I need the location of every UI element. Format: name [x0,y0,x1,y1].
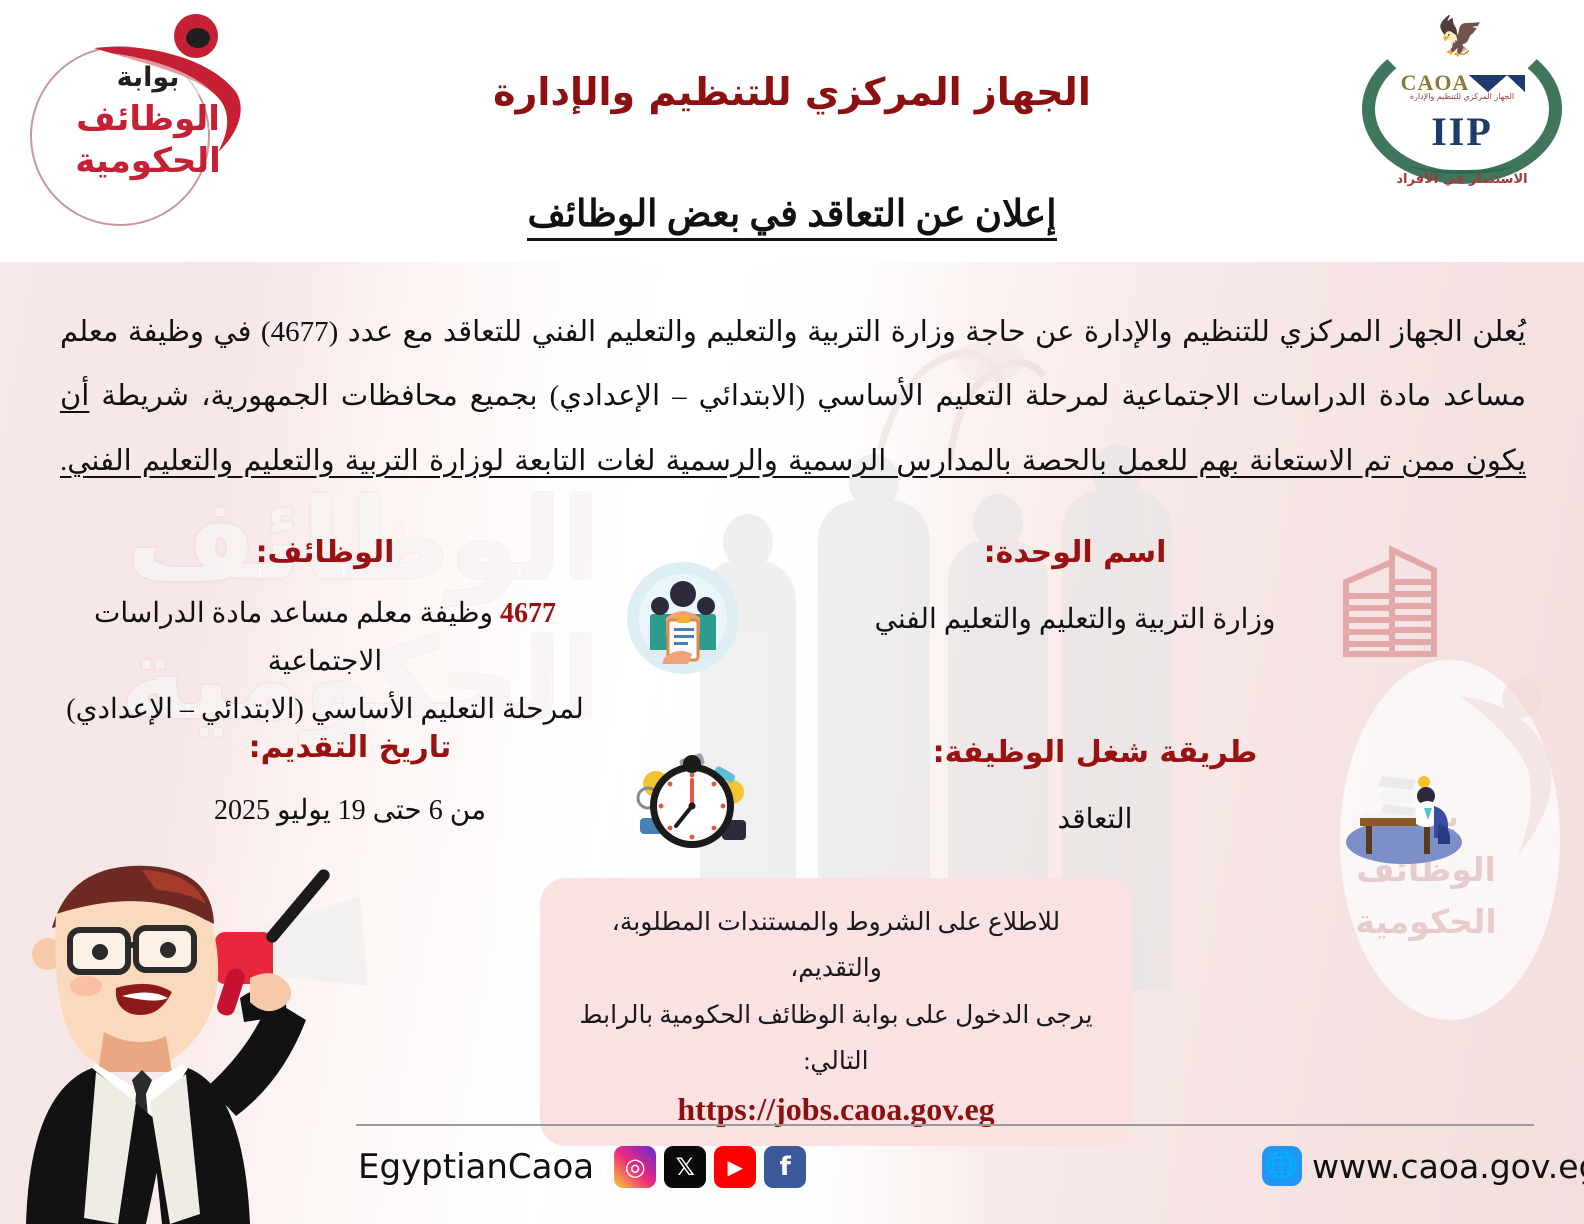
caoa-mountains-icon [1469,75,1525,92]
jobs-block: الوظائف: 4677 وظيفة معلم مساعد مادة الدر… [40,535,610,734]
jobs-portal-url[interactable]: https://jobs.caoa.gov.eg [566,1091,1106,1128]
caoa-iip-emblem: 🦅 CAOA الجهاز المركزي للتنظيم والإدارة I… [1356,12,1568,200]
footer-divider [356,1124,1534,1126]
jobs-value-line1: 4677 وظيفة معلم مساعد مادة الدراسات الاج… [40,590,610,686]
portal-logo-line2: الوظائف [28,102,268,136]
jobs-heading: الوظائف: [40,535,610,570]
iip-acronym: IIP [1394,108,1530,155]
unit-name-heading: اسم الوحدة: [840,535,1310,570]
social-handle: EgyptianCaoa [358,1147,594,1187]
instructions-line2: يرجى الدخول على بوابة الوظائف الحكومية ب… [566,993,1106,1086]
info-grid: اسم الوحدة: وزارة التربية والتعليم والتع… [0,525,1584,875]
poster-footer: f ▶ 𝕏 ◎ EgyptianCaoa 🌐 www.caoa.gov.eg [0,1124,1584,1224]
iip-arabic-label: الاستثمار في الأفراد [1376,172,1548,187]
eagle-emblem-icon: 🦅 [1440,16,1484,58]
job-announcement-poster: الوظائف الحكومية بوابة الوظائف الحكومية [0,0,1584,1224]
social-media-bar: f ▶ 𝕏 ◎ EgyptianCaoa [358,1146,806,1188]
intro-part1: يُعلن الجهاز المركزي للتنظيم والإدارة عن… [60,316,1526,412]
jobs-description-line2: لمرحلة التعليم الأساسي (الابتدائي – الإع… [40,686,610,734]
organization-title: الجهاز المركزي للتنظيم والإدارة [392,70,1192,114]
announcement-body-paragraph: يُعلن الجهاز المركزي للتنظيم والإدارة عن… [60,300,1526,493]
government-jobs-portal-logo: بوابة الوظائف الحكومية [20,8,310,208]
application-instructions-box: للاطلاع على الشروط والمستندات المطلوبة، … [540,878,1132,1146]
announcement-title: إعلان عن التعاقد في بعض الوظائف [392,192,1192,236]
caoa-arabic-name: الجهاز المركزي للتنظيم والإدارة [1376,92,1548,101]
unit-name-value: وزارة التربية والتعليم والتعليم الفني [840,596,1310,644]
instructions-line1: للاطلاع على الشروط والمستندات المطلوبة، … [566,900,1106,993]
employment-method-value: التعاقد [880,796,1310,844]
youtube-icon[interactable]: ▶ [714,1146,756,1188]
announcement-title-text: إعلان عن التعاقد في بعض الوظائف [527,194,1056,241]
portal-logo-line1: بوابة [28,64,268,91]
portal-logo-figure-head-icon [174,14,218,58]
unit-name-block: اسم الوحدة: وزارة التربية والتعليم والتع… [840,535,1310,644]
website-bar: 🌐 www.caoa.gov.eg [1262,1146,1584,1186]
employment-method-heading: طريقة شغل الوظيفة: [880,735,1310,770]
jobs-description-line1: وظيفة معلم مساعد مادة الدراسات الاجتماعي… [94,598,493,677]
employment-method-block: طريقة شغل الوظيفة: التعاقد [880,735,1310,844]
jobs-count: 4677 [500,598,556,629]
jobs-value: 4677 وظيفة معلم مساعد مادة الدراسات الاج… [40,590,610,734]
globe-icon: 🌐 [1262,1146,1302,1186]
facebook-icon[interactable]: f [764,1146,806,1188]
application-date-value: من 6 حتى 19 يوليو 2025 [140,787,560,835]
instagram-icon[interactable]: ◎ [614,1146,656,1188]
portal-logo-line3: الحكومية [28,144,268,178]
x-twitter-icon[interactable]: 𝕏 [664,1146,706,1188]
application-date-block: تاريخ التقديم: من 6 حتى 19 يوليو 2025 [140,730,560,835]
website-url[interactable]: www.caoa.gov.eg [1312,1147,1584,1186]
application-date-heading: تاريخ التقديم: [140,730,560,765]
poster-header: بوابة الوظائف الحكومية 🦅 CAOA الجهاز الم… [0,0,1584,262]
